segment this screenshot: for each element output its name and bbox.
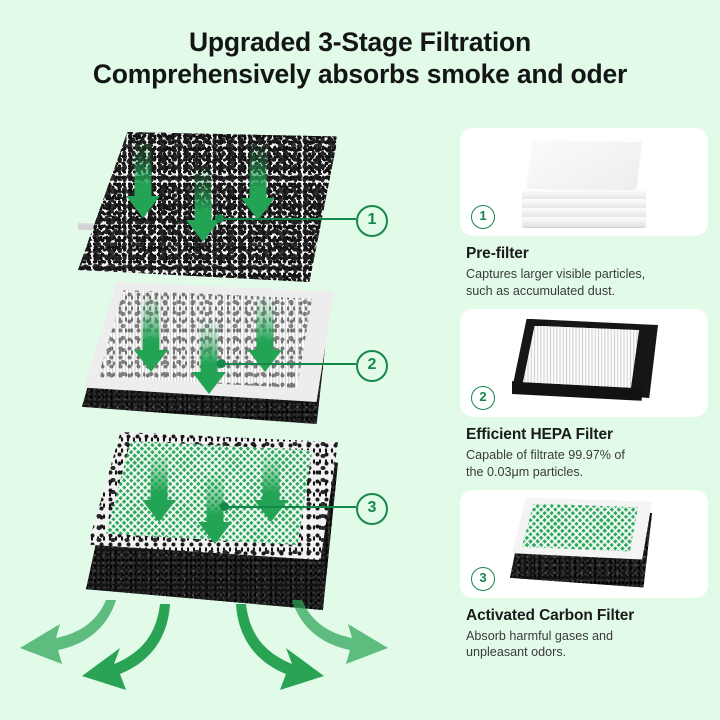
inflow-arrow-3c xyxy=(254,452,288,522)
page-title: Upgraded 3-Stage Filtration Comprehensiv… xyxy=(0,26,720,91)
leader-line-3 xyxy=(226,506,356,508)
inflow-arrow-2b xyxy=(192,318,226,394)
card-title-2: Efficient HEPA Filter xyxy=(466,426,708,444)
hepa-card-image: 2 xyxy=(460,309,708,417)
inflow-arrow-2c xyxy=(248,296,282,372)
title-line-1: Upgraded 3-Stage Filtration xyxy=(189,27,531,57)
filter-stack-diagram: 1 2 3 xyxy=(0,110,455,710)
outflow-arrows xyxy=(10,598,430,713)
card-badge-3: 3 xyxy=(471,567,495,591)
prefilter-card-image: 1 xyxy=(460,128,708,236)
hepa-filter-icon xyxy=(512,319,658,409)
carbon-filter-icon xyxy=(510,498,660,593)
diagram-marker-2: 2 xyxy=(356,350,388,382)
card-badge-2: 2 xyxy=(471,386,495,410)
prefilter-sheet-stack-icon xyxy=(522,140,646,226)
leader-line-1 xyxy=(221,218,356,220)
filter-card-carbon: 3 Activated Carbon Filter Absorb harmful… xyxy=(460,490,708,662)
infographic-root: Upgraded 3-Stage Filtration Comprehensiv… xyxy=(0,0,720,720)
outflow-arrow-far-right xyxy=(292,600,388,664)
card-description-1: Captures larger visible particles, such … xyxy=(466,266,708,300)
diagram-marker-1: 1 xyxy=(356,205,388,237)
title-line-2: Comprehensively absorbs smoke and oder xyxy=(0,58,720,90)
card-badge-1: 1 xyxy=(471,205,495,229)
inflow-arrow-1b xyxy=(186,164,220,242)
card-title-1: Pre-filter xyxy=(466,245,708,263)
inflow-arrow-1a xyxy=(126,138,160,218)
card-description-2: Capable of filtrate 99.97% of the 0.03μm… xyxy=(466,447,708,481)
filter-card-hepa: 2 Efficient HEPA Filter Capable of filtr… xyxy=(460,309,708,481)
inflow-arrow-1c xyxy=(241,140,275,220)
outflow-arrow-svg xyxy=(10,598,430,713)
card-title-3: Activated Carbon Filter xyxy=(466,607,708,625)
filter-card-prefilter: 1 Pre-filter Captures larger visible par… xyxy=(460,128,708,300)
outflow-arrow-left xyxy=(82,604,170,690)
filter-cards-list: 1 Pre-filter Captures larger visible par… xyxy=(460,128,708,670)
inflow-arrow-3a xyxy=(142,450,176,522)
diagram-marker-3: 3 xyxy=(356,493,388,525)
card-description-3: Absorb harmful gases and unpleasant odor… xyxy=(466,628,708,662)
diagram-layer-prefilter xyxy=(78,132,338,282)
inflow-arrow-2a xyxy=(134,294,168,372)
leader-line-2 xyxy=(223,363,356,365)
outflow-arrow-far-left xyxy=(20,600,116,664)
carbon-card-image: 3 xyxy=(460,490,708,598)
